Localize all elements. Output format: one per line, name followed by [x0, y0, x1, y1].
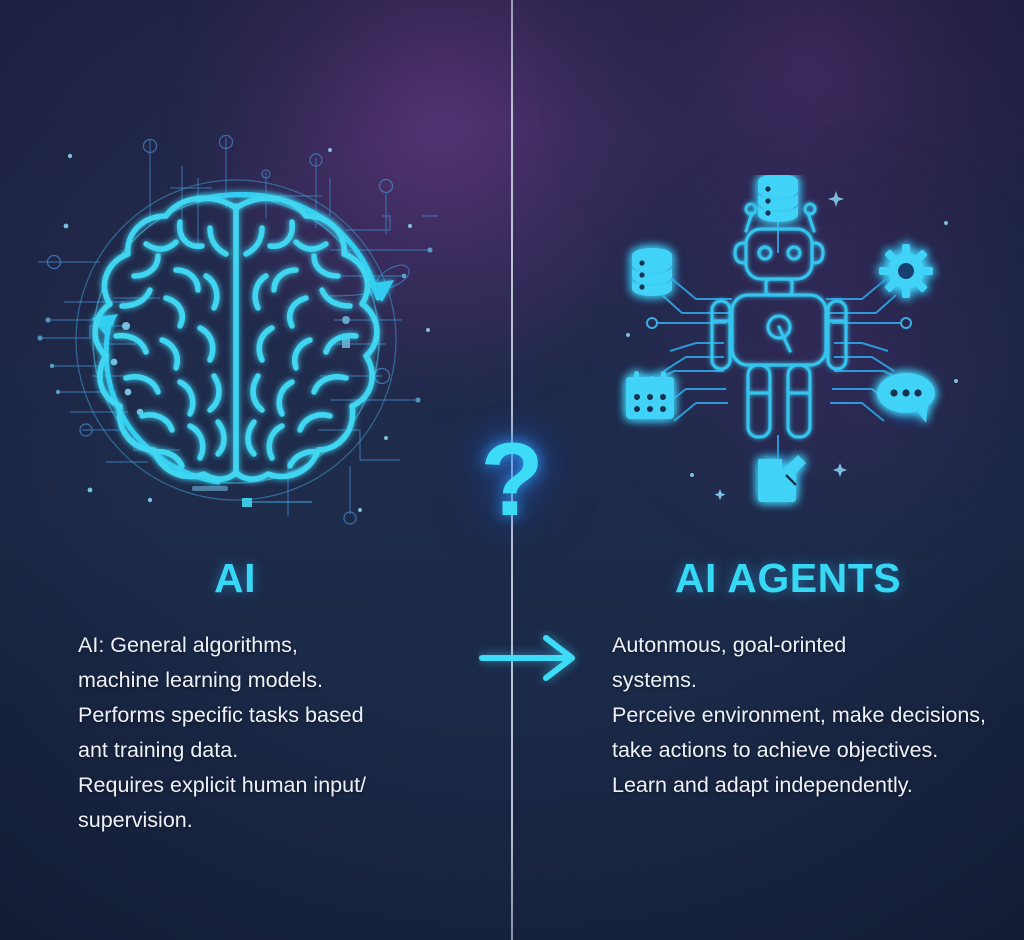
document-edit-icon-bottom	[748, 447, 808, 507]
gear-icon-right	[872, 237, 940, 305]
description-agents-line-2: systems.	[612, 663, 1024, 698]
database-icon-top	[748, 175, 808, 227]
connection-traces	[647, 215, 911, 471]
description-ai-line-5: Requires explicit human input/	[78, 768, 478, 803]
circuit-traces-right	[288, 180, 438, 525]
calendar-icon-left	[618, 367, 682, 431]
chat-icon-right	[874, 367, 938, 431]
description-agents-line-1: Autonmous, goal-orinted	[612, 628, 1024, 663]
description-ai-line-3: Performs specific tasks based	[78, 698, 478, 733]
description-ai-line-2: machine learning models.	[78, 663, 478, 698]
page-title-ai: AI	[0, 555, 470, 602]
description-ai-agents: Autonmous, goal-orinted systems. Perceiv…	[612, 628, 1024, 803]
database-icon-left	[620, 239, 684, 303]
description-ai: AI: General algorithms, machine learning…	[78, 628, 478, 838]
brain-circuit-illustration	[30, 130, 450, 530]
description-agents-line-3: Perceive environment, make decisions,	[612, 698, 1024, 733]
circuit-bar	[192, 486, 228, 491]
circuit-square	[242, 498, 252, 507]
question-mark-icon: ?	[462, 424, 562, 536]
page-title-ai-agents: AI AGENTS	[600, 555, 976, 602]
description-agents-line-4: take actions to achieve objectives.	[612, 733, 1024, 768]
infographic-canvas: ? AI AI AGENTS AI: General algorithms, m…	[0, 0, 1024, 940]
description-ai-line-4: ant training data.	[78, 733, 478, 768]
robot-network-illustration	[600, 175, 990, 515]
description-ai-line-6: supervision.	[78, 803, 478, 838]
arrow-right-icon	[478, 630, 582, 686]
description-ai-line-1: AI: General algorithms,	[78, 628, 478, 663]
description-agents-line-5: Learn and adapt independently.	[612, 768, 1024, 803]
